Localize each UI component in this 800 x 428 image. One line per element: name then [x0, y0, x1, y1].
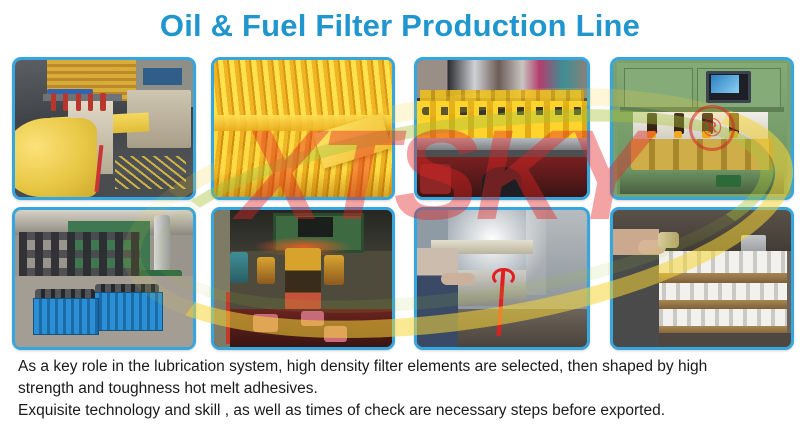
product-info-page: Oil & Fuel Filter Production Line — [0, 0, 800, 428]
description-text-block: As a key role in the lubrication system,… — [18, 356, 784, 422]
photo-gallery-grid — [0, 55, 800, 353]
pleated-yellow-filter-paper-image — [214, 60, 392, 197]
gallery-photo-1[interactable] — [12, 57, 196, 200]
filter-paper-pleating-machine-image — [15, 60, 193, 197]
gallery-photo-7[interactable] — [414, 207, 590, 350]
gallery-photo-3[interactable] — [414, 57, 590, 200]
seaming-press-machine-image — [214, 210, 392, 347]
conveyor-yellow-filter-cans-image — [417, 60, 587, 197]
page-title: Oil & Fuel Filter Production Line — [0, 8, 800, 44]
description-line-2: strength and toughness hot melt adhesive… — [18, 378, 784, 400]
green-glue-dispensing-machine-image — [613, 60, 791, 197]
packing-white-filter-cans-image — [613, 210, 791, 347]
gallery-photo-4[interactable] — [610, 57, 794, 200]
leak-test-station-image — [417, 210, 587, 347]
gallery-photo-2[interactable] — [211, 57, 395, 200]
description-line-3: Exquisite technology and skill , as well… — [18, 400, 784, 422]
gallery-photo-8[interactable] — [610, 207, 794, 350]
coating-workshop-blue-crates-image — [15, 210, 193, 347]
gallery-photo-5[interactable] — [12, 207, 196, 350]
gallery-photo-6[interactable] — [211, 207, 395, 350]
description-line-1: As a key role in the lubrication system,… — [18, 356, 784, 378]
